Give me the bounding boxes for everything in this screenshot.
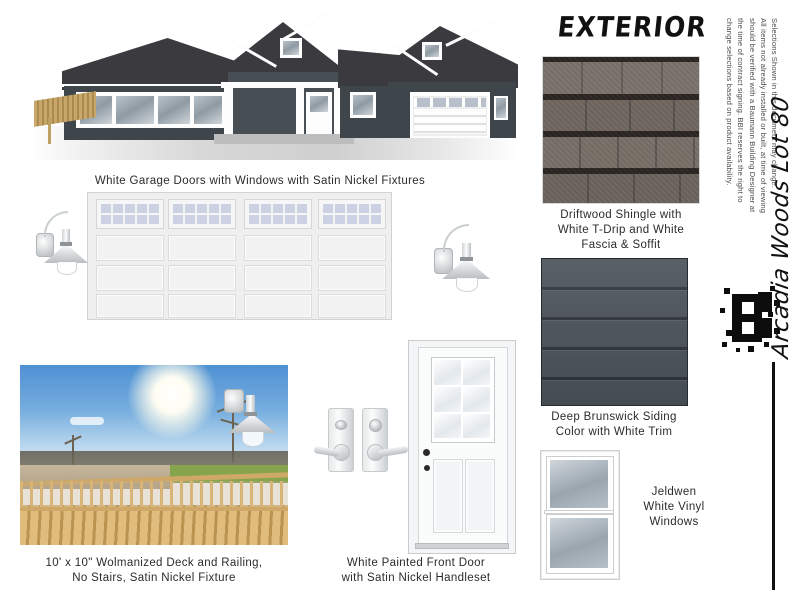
window-garage-side-glass [496, 98, 506, 118]
windows-caption-line1: Jeldwen [626, 485, 722, 500]
deadbolt-cylinder-right [369, 419, 382, 432]
white-garage-door [87, 192, 392, 320]
deck-floor [20, 505, 288, 545]
garage-door-elevation-lites [414, 98, 486, 107]
front-door-caption-line1: White Painted Front Door [310, 556, 522, 571]
cloud [70, 417, 104, 425]
shingle-caption-line1: Driftwood Shingle with [532, 208, 710, 223]
deadbolt-cylinder-left [335, 420, 347, 430]
deck-light-overlay [220, 383, 288, 455]
gable-trim-center-right [282, 9, 334, 41]
door-deadbolt-bore [423, 449, 430, 456]
entry-door-lite [310, 96, 328, 112]
front-door-caption-line2: with Satin Nickel Handleset [310, 571, 522, 586]
house-elevation-rendering [28, 8, 518, 160]
driftwood-shingle-swatch [542, 56, 700, 204]
jeldwen-white-vinyl-window [540, 450, 620, 580]
deck-caption: 10' x 10" Wolmanized Deck and Railing, N… [14, 556, 294, 586]
satin-nickel-barn-light-right [424, 218, 488, 294]
disclaimer-line-3: should be verified with a Baumann Buildi… [746, 18, 757, 213]
siding-caption-line1: Deep Brunswick Siding [528, 410, 700, 425]
window-garage-gable-glass [425, 45, 439, 57]
siding-caption-line2: Color with White Trim [528, 425, 700, 440]
porch-slab [214, 134, 354, 144]
deck-rail-bottom [20, 507, 288, 511]
porch-column-1 [224, 86, 233, 136]
project-name-rule [772, 362, 775, 590]
satin-nickel-handleset [318, 408, 416, 492]
front-door-caption: White Painted Front Door with Satin Nick… [310, 556, 522, 586]
disclaimer-line-4: the time of contract signing. BBI reserv… [735, 18, 746, 213]
page-title: EXTERIOR [556, 11, 709, 43]
windows-caption: Jeldwen White Vinyl Windows [626, 485, 722, 530]
garage-door-elevation-panels [414, 109, 486, 134]
window-bay-glass-2 [116, 96, 154, 124]
door-handle-bore [424, 465, 430, 471]
porch-header [221, 82, 345, 88]
white-painted-front-door [408, 340, 516, 554]
shingle-caption-line3: Fascia & Soffit [532, 238, 710, 253]
satin-nickel-barn-light-left [26, 205, 86, 277]
windows-caption-line3: Windows [626, 515, 722, 530]
window-link-glass [353, 95, 373, 115]
side-deck-post [48, 118, 51, 144]
shingle-caption: Driftwood Shingle with White T-Drip and … [532, 208, 710, 253]
gable-trim-garage-r [445, 13, 511, 47]
deck-caption-line2: No Stairs, Satin Nickel Fixture [14, 571, 294, 586]
window-center-upper-glass [283, 41, 299, 55]
deep-brunswick-siding-swatch [541, 258, 688, 406]
selection-board: EXTERIOR Driftwood Shingle with White T-… [0, 0, 792, 611]
deck-balusters [20, 481, 288, 509]
porch-column-2 [296, 86, 304, 136]
disclaimer-line-5: change selections based on product avail… [724, 18, 735, 213]
project-name: Arcadia Woods Lot 80 [768, 96, 792, 358]
shingle-caption-line2: White T-Drip and White [532, 223, 710, 238]
window-bay-glass-4 [194, 96, 222, 124]
garage-caption: White Garage Doors with Windows with Sat… [70, 174, 450, 189]
windows-caption-line2: White Vinyl [626, 500, 722, 515]
window-bay-glass-3 [158, 96, 190, 124]
roof-left [62, 38, 238, 90]
project-name-text: Arcadia Woods Lot 80 [768, 95, 792, 360]
siding-caption: Deep Brunswick Siding Color with White T… [528, 410, 700, 440]
wolmanized-deck-photo [20, 365, 288, 545]
door-threshold [415, 543, 509, 549]
wall-left-skirt [64, 128, 238, 140]
deck-caption-line1: 10' x 10" Wolmanized Deck and Railing, [14, 556, 294, 571]
